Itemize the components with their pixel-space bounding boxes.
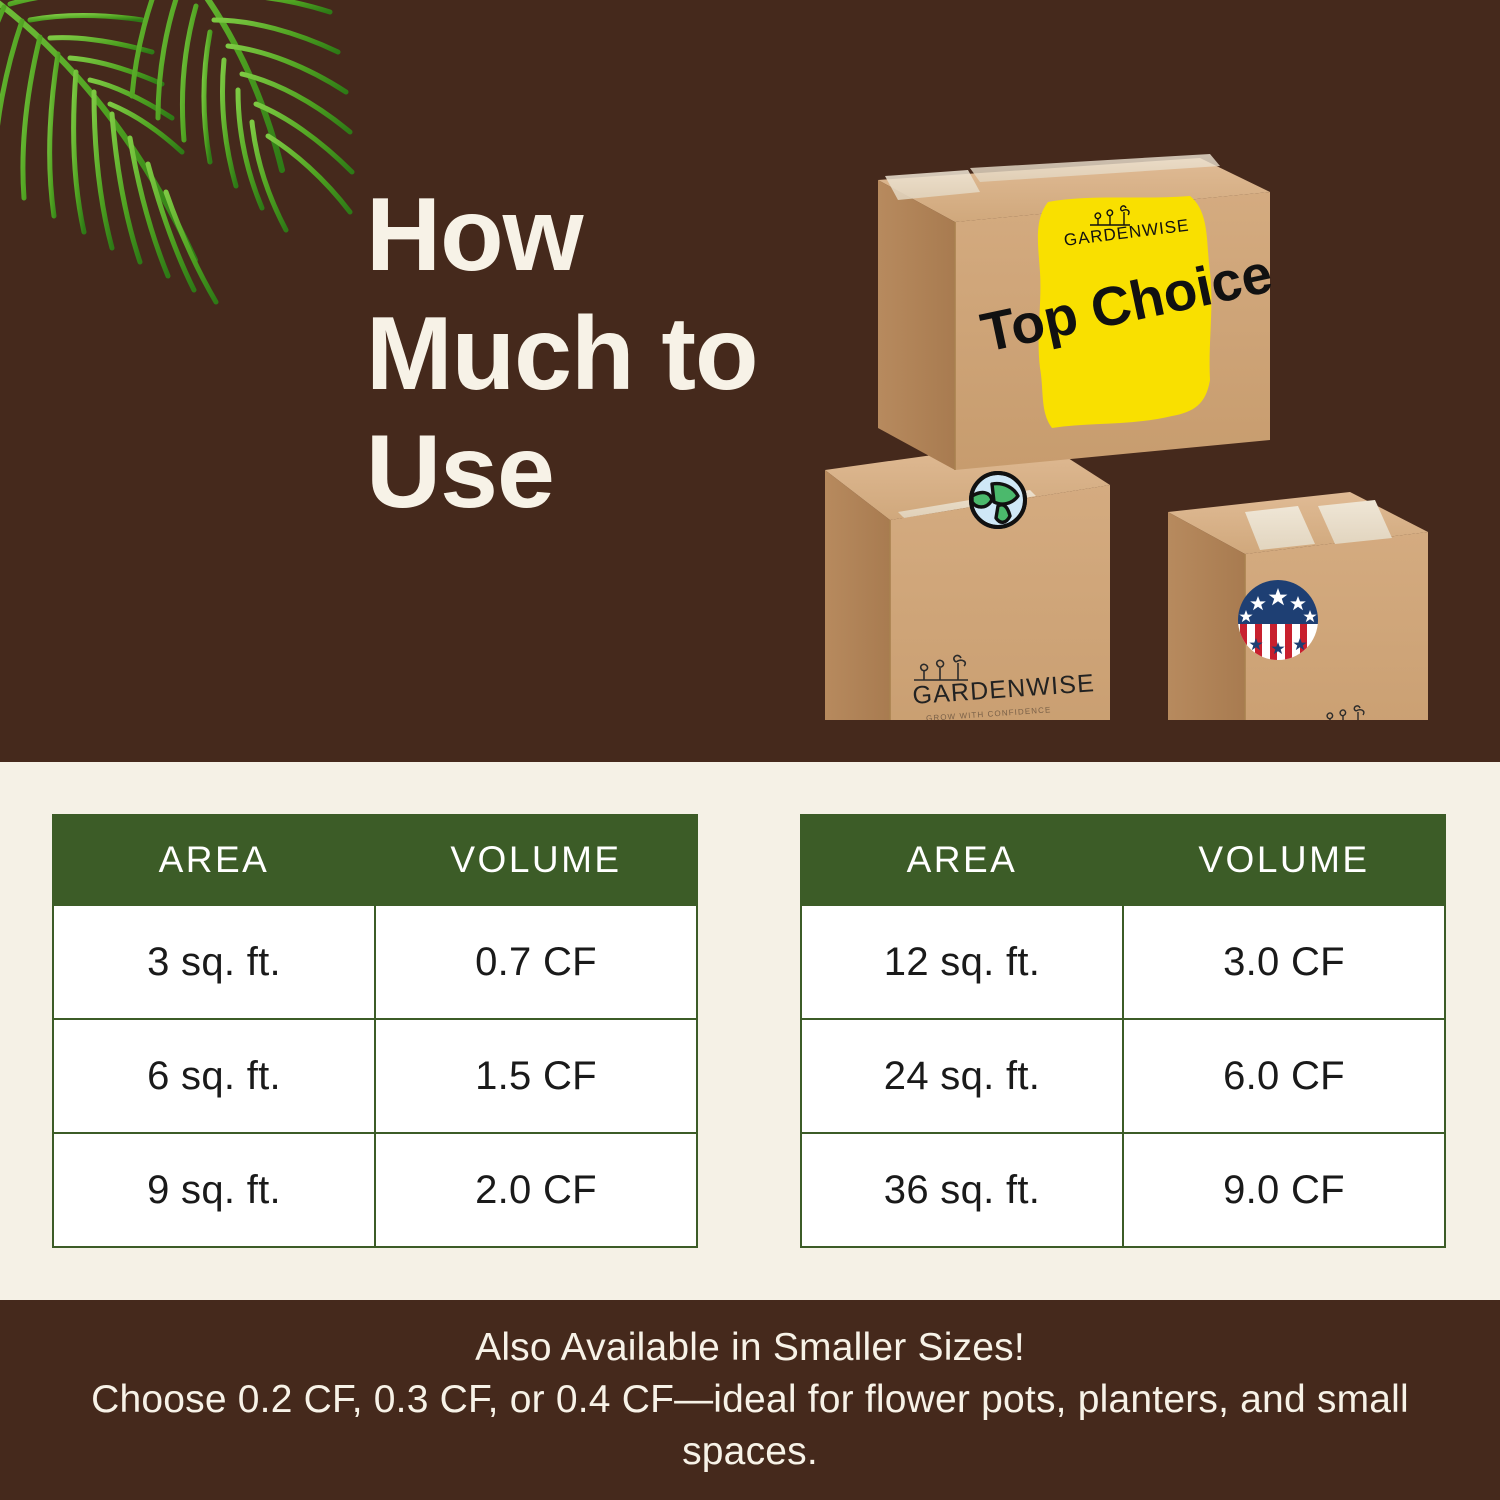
hero-panel: How Much to Use bbox=[0, 0, 1500, 762]
table-row: 24 sq. ft. 6.0 CF bbox=[801, 1019, 1445, 1133]
tables-section: AREA VOLUME 3 sq. ft. 0.7 CF 6 sq. ft. 1… bbox=[0, 762, 1500, 1300]
cell-area: 9 sq. ft. bbox=[53, 1133, 375, 1247]
usage-table-right: AREA VOLUME 12 sq. ft. 3.0 CF 24 sq. ft.… bbox=[800, 814, 1446, 1248]
footer-subtext: Choose 0.2 CF, 0.3 CF, or 0.4 CF—ideal f… bbox=[55, 1374, 1445, 1478]
palm-leaf-icon bbox=[0, 0, 390, 360]
right-box: GARDENWISE GROW WITH CONFIDENCE bbox=[1168, 492, 1473, 720]
cell-area: 12 sq. ft. bbox=[801, 905, 1123, 1019]
column-header-area: AREA bbox=[53, 815, 375, 905]
table-row: 36 sq. ft. 9.0 CF bbox=[801, 1133, 1445, 1247]
cell-volume: 9.0 CF bbox=[1123, 1133, 1445, 1247]
middle-box: GARDENWISE GROW WITH CONFIDENCE bbox=[825, 440, 1110, 720]
poster-root: How Much to Use bbox=[0, 0, 1500, 1500]
cell-area: 6 sq. ft. bbox=[53, 1019, 375, 1133]
eco-earth-icon bbox=[971, 473, 1025, 527]
table-row: 9 sq. ft. 2.0 CF bbox=[53, 1133, 697, 1247]
cell-volume: 6.0 CF bbox=[1123, 1019, 1445, 1133]
cell-volume: 1.5 CF bbox=[375, 1019, 697, 1133]
column-header-area: AREA bbox=[801, 815, 1123, 905]
cell-volume: 3.0 CF bbox=[1123, 905, 1445, 1019]
page-title: How Much to Use bbox=[366, 176, 786, 532]
cell-area: 24 sq. ft. bbox=[801, 1019, 1123, 1133]
cell-volume: 0.7 CF bbox=[375, 905, 697, 1019]
footer-headline: Also Available in Smaller Sizes! bbox=[475, 1322, 1025, 1374]
table-header-row: AREA VOLUME bbox=[53, 815, 697, 905]
column-header-volume: VOLUME bbox=[1123, 815, 1445, 905]
cell-area: 3 sq. ft. bbox=[53, 905, 375, 1019]
usa-flag-icon bbox=[1238, 580, 1318, 660]
footer-banner: Also Available in Smaller Sizes! Choose … bbox=[0, 1300, 1500, 1500]
cell-volume: 2.0 CF bbox=[375, 1133, 697, 1247]
table-header-row: AREA VOLUME bbox=[801, 815, 1445, 905]
table-row: 12 sq. ft. 3.0 CF bbox=[801, 905, 1445, 1019]
table-row: 6 sq. ft. 1.5 CF bbox=[53, 1019, 697, 1133]
cell-area: 36 sq. ft. bbox=[801, 1133, 1123, 1247]
product-boxes-illustration: GARDENWISE GROW WITH CONFIDENCE bbox=[790, 140, 1490, 720]
usage-table-left: AREA VOLUME 3 sq. ft. 0.7 CF 6 sq. ft. 1… bbox=[52, 814, 698, 1248]
table-row: 3 sq. ft. 0.7 CF bbox=[53, 905, 697, 1019]
top-box: GARDENWISE Top Choice bbox=[878, 154, 1277, 470]
column-header-volume: VOLUME bbox=[375, 815, 697, 905]
